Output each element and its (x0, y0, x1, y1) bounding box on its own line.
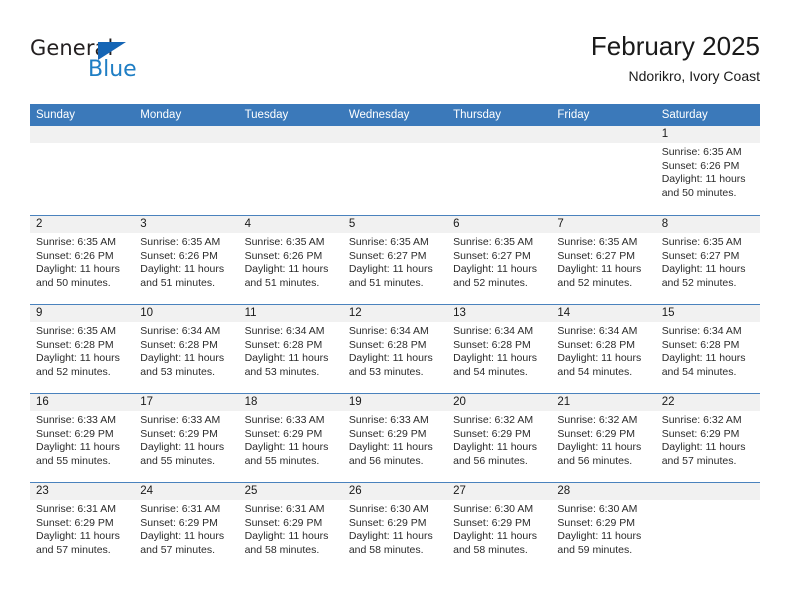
day-number: 15 (656, 305, 760, 322)
day-details: Sunrise: 6:31 AMSunset: 6:29 PMDaylight:… (134, 500, 238, 557)
sunrise-text: Sunrise: 6:32 AM (557, 414, 649, 428)
day-cell-1[interactable]: 1Sunrise: 6:35 AMSunset: 6:26 PMDaylight… (656, 126, 760, 215)
sunrise-text: Sunrise: 6:35 AM (662, 146, 754, 160)
day-number-band: 21 (551, 394, 655, 411)
daylight-text-line2: and 52 minutes. (36, 366, 128, 380)
day-number: 19 (343, 394, 447, 411)
weekday-header-sunday: Sunday (30, 104, 134, 126)
sunrise-text: Sunrise: 6:34 AM (245, 325, 337, 339)
day-details: Sunrise: 6:34 AMSunset: 6:28 PMDaylight:… (447, 322, 551, 379)
day-cell-2[interactable]: 2Sunrise: 6:35 AMSunset: 6:26 PMDaylight… (30, 216, 134, 304)
sunrise-text: Sunrise: 6:33 AM (140, 414, 232, 428)
sunset-text: Sunset: 6:29 PM (245, 428, 337, 442)
sunset-text: Sunset: 6:29 PM (245, 517, 337, 531)
day-details (343, 143, 447, 146)
sunset-text: Sunset: 6:28 PM (36, 339, 128, 353)
sunrise-text: Sunrise: 6:33 AM (349, 414, 441, 428)
day-details: Sunrise: 6:35 AMSunset: 6:26 PMDaylight:… (656, 143, 760, 200)
general-blue-logo[interactable]: General Blue (30, 36, 230, 88)
day-number-band: 27 (447, 483, 551, 500)
day-number-band: 18 (239, 394, 343, 411)
day-cell-19[interactable]: 19Sunrise: 6:33 AMSunset: 6:29 PMDayligh… (343, 394, 447, 482)
day-details: Sunrise: 6:32 AMSunset: 6:29 PMDaylight:… (551, 411, 655, 468)
daylight-text-line1: Daylight: 11 hours (453, 352, 545, 366)
day-details: Sunrise: 6:34 AMSunset: 6:28 PMDaylight:… (134, 322, 238, 379)
daylight-text-line2: and 54 minutes. (453, 366, 545, 380)
day-number: 12 (343, 305, 447, 322)
daylight-text-line1: Daylight: 11 hours (140, 263, 232, 277)
day-details: Sunrise: 6:35 AMSunset: 6:26 PMDaylight:… (239, 233, 343, 290)
day-details (447, 143, 551, 146)
sunset-text: Sunset: 6:27 PM (349, 250, 441, 264)
day-cell-11[interactable]: 11Sunrise: 6:34 AMSunset: 6:28 PMDayligh… (239, 305, 343, 393)
day-number-band (30, 126, 134, 143)
day-cell-14[interactable]: 14Sunrise: 6:34 AMSunset: 6:28 PMDayligh… (551, 305, 655, 393)
daylight-text-line2: and 56 minutes. (557, 455, 649, 469)
calendar-page: General Blue February 2025 Ndorikro, Ivo… (0, 0, 792, 612)
day-number-band (239, 126, 343, 143)
day-number: 24 (134, 483, 238, 500)
daylight-text-line2: and 56 minutes. (453, 455, 545, 469)
sunrise-text: Sunrise: 6:35 AM (349, 236, 441, 250)
sunrise-text: Sunrise: 6:35 AM (36, 236, 128, 250)
daylight-text-line2: and 52 minutes. (557, 277, 649, 291)
sunrise-text: Sunrise: 6:30 AM (557, 503, 649, 517)
sunset-text: Sunset: 6:26 PM (662, 160, 754, 174)
daylight-text-line1: Daylight: 11 hours (349, 530, 441, 544)
day-details (239, 143, 343, 146)
sunset-text: Sunset: 6:26 PM (245, 250, 337, 264)
day-number-band: 12 (343, 305, 447, 322)
daylight-text-line1: Daylight: 11 hours (453, 263, 545, 277)
day-number: 8 (656, 216, 760, 233)
weekday-header-saturday: Saturday (656, 104, 760, 126)
sunrise-text: Sunrise: 6:34 AM (349, 325, 441, 339)
day-cell-26[interactable]: 26Sunrise: 6:30 AMSunset: 6:29 PMDayligh… (343, 483, 447, 571)
day-cell-22[interactable]: 22Sunrise: 6:32 AMSunset: 6:29 PMDayligh… (656, 394, 760, 482)
sunset-text: Sunset: 6:26 PM (140, 250, 232, 264)
day-number: 26 (343, 483, 447, 500)
sunrise-text: Sunrise: 6:31 AM (140, 503, 232, 517)
sunrise-text: Sunrise: 6:33 AM (36, 414, 128, 428)
day-number: 14 (551, 305, 655, 322)
day-cell-10[interactable]: 10Sunrise: 6:34 AMSunset: 6:28 PMDayligh… (134, 305, 238, 393)
daylight-text-line2: and 55 minutes. (140, 455, 232, 469)
daylight-text-line2: and 52 minutes. (662, 277, 754, 291)
daylight-text-line1: Daylight: 11 hours (557, 352, 649, 366)
sunset-text: Sunset: 6:29 PM (557, 517, 649, 531)
daylight-text-line1: Daylight: 11 hours (36, 441, 128, 455)
sunrise-text: Sunrise: 6:30 AM (349, 503, 441, 517)
day-cell-3[interactable]: 3Sunrise: 6:35 AMSunset: 6:26 PMDaylight… (134, 216, 238, 304)
sunrise-text: Sunrise: 6:35 AM (557, 236, 649, 250)
day-details: Sunrise: 6:32 AMSunset: 6:29 PMDaylight:… (656, 411, 760, 468)
sunrise-text: Sunrise: 6:34 AM (557, 325, 649, 339)
sunrise-text: Sunrise: 6:34 AM (662, 325, 754, 339)
day-number-band: 5 (343, 216, 447, 233)
day-number-band: 22 (656, 394, 760, 411)
day-number-band: 15 (656, 305, 760, 322)
daylight-text-line2: and 54 minutes. (662, 366, 754, 380)
page-subtitle: Ndorikro, Ivory Coast (591, 66, 760, 86)
day-number: 17 (134, 394, 238, 411)
calendar-grid: SundayMondayTuesdayWednesdayThursdayFrid… (30, 104, 760, 571)
day-details: Sunrise: 6:33 AMSunset: 6:29 PMDaylight:… (134, 411, 238, 468)
day-cell-18[interactable]: 18Sunrise: 6:33 AMSunset: 6:29 PMDayligh… (239, 394, 343, 482)
sunrise-text: Sunrise: 6:33 AM (245, 414, 337, 428)
day-number-band: 13 (447, 305, 551, 322)
day-number: 11 (239, 305, 343, 322)
daylight-text-line2: and 57 minutes. (662, 455, 754, 469)
sunrise-text: Sunrise: 6:35 AM (36, 325, 128, 339)
day-number-band: 7 (551, 216, 655, 233)
calendar-week-row: 16Sunrise: 6:33 AMSunset: 6:29 PMDayligh… (30, 393, 760, 482)
daylight-text-line1: Daylight: 11 hours (140, 441, 232, 455)
day-cell-16[interactable]: 16Sunrise: 6:33 AMSunset: 6:29 PMDayligh… (30, 394, 134, 482)
sunset-text: Sunset: 6:27 PM (453, 250, 545, 264)
daylight-text-line1: Daylight: 11 hours (36, 263, 128, 277)
day-number-band: 26 (343, 483, 447, 500)
page-header: General Blue February 2025 Ndorikro, Ivo… (30, 30, 760, 92)
day-details: Sunrise: 6:33 AMSunset: 6:29 PMDaylight:… (343, 411, 447, 468)
day-cell-21[interactable]: 21Sunrise: 6:32 AMSunset: 6:29 PMDayligh… (551, 394, 655, 482)
day-number: 2 (30, 216, 134, 233)
daylight-text-line2: and 51 minutes. (349, 277, 441, 291)
calendar-week-row: 2Sunrise: 6:35 AMSunset: 6:26 PMDaylight… (30, 215, 760, 304)
day-cell-27[interactable]: 27Sunrise: 6:30 AMSunset: 6:29 PMDayligh… (447, 483, 551, 571)
sunset-text: Sunset: 6:28 PM (662, 339, 754, 353)
day-details: Sunrise: 6:31 AMSunset: 6:29 PMDaylight:… (30, 500, 134, 557)
day-number: 5 (343, 216, 447, 233)
day-details: Sunrise: 6:34 AMSunset: 6:28 PMDaylight:… (656, 322, 760, 379)
day-number-band: 2 (30, 216, 134, 233)
day-number-band: 24 (134, 483, 238, 500)
calendar-week-row: 1Sunrise: 6:35 AMSunset: 6:26 PMDaylight… (30, 126, 760, 215)
day-details: Sunrise: 6:30 AMSunset: 6:29 PMDaylight:… (551, 500, 655, 557)
day-number-band: 17 (134, 394, 238, 411)
daylight-text-line2: and 50 minutes. (36, 277, 128, 291)
sunset-text: Sunset: 6:28 PM (557, 339, 649, 353)
sunset-text: Sunset: 6:29 PM (349, 428, 441, 442)
sunrise-text: Sunrise: 6:32 AM (662, 414, 754, 428)
day-number-band: 3 (134, 216, 238, 233)
day-number-band: 23 (30, 483, 134, 500)
sunset-text: Sunset: 6:27 PM (557, 250, 649, 264)
day-number-band: 11 (239, 305, 343, 322)
day-cell-empty (447, 126, 551, 215)
day-details: Sunrise: 6:33 AMSunset: 6:29 PMDaylight:… (239, 411, 343, 468)
logo-text-blue: Blue (88, 57, 137, 82)
sunrise-text: Sunrise: 6:35 AM (245, 236, 337, 250)
day-number-band: 9 (30, 305, 134, 322)
daylight-text-line1: Daylight: 11 hours (349, 352, 441, 366)
day-number: 6 (447, 216, 551, 233)
daylight-text-line2: and 58 minutes. (453, 544, 545, 558)
calendar-weeks: 1Sunrise: 6:35 AMSunset: 6:26 PMDaylight… (30, 126, 760, 571)
day-cell-empty (239, 126, 343, 215)
day-cell-25[interactable]: 25Sunrise: 6:31 AMSunset: 6:29 PMDayligh… (239, 483, 343, 571)
day-cell-empty (134, 126, 238, 215)
day-cell-20[interactable]: 20Sunrise: 6:32 AMSunset: 6:29 PMDayligh… (447, 394, 551, 482)
daylight-text-line1: Daylight: 11 hours (245, 352, 337, 366)
day-number: 20 (447, 394, 551, 411)
day-number-band: 16 (30, 394, 134, 411)
sunset-text: Sunset: 6:29 PM (36, 517, 128, 531)
day-cell-empty (343, 126, 447, 215)
day-details: Sunrise: 6:34 AMSunset: 6:28 PMDaylight:… (239, 322, 343, 379)
daylight-text-line2: and 53 minutes. (349, 366, 441, 380)
day-cell-4[interactable]: 4Sunrise: 6:35 AMSunset: 6:26 PMDaylight… (239, 216, 343, 304)
day-cell-empty (30, 126, 134, 215)
day-details: Sunrise: 6:35 AMSunset: 6:27 PMDaylight:… (551, 233, 655, 290)
day-number: 28 (551, 483, 655, 500)
day-number-band: 25 (239, 483, 343, 500)
sunrise-text: Sunrise: 6:35 AM (453, 236, 545, 250)
day-number-band: 8 (656, 216, 760, 233)
sunset-text: Sunset: 6:28 PM (453, 339, 545, 353)
daylight-text-line1: Daylight: 11 hours (662, 173, 754, 187)
daylight-text-line1: Daylight: 11 hours (36, 352, 128, 366)
day-details: Sunrise: 6:35 AMSunset: 6:27 PMDaylight:… (343, 233, 447, 290)
day-number: 3 (134, 216, 238, 233)
daylight-text-line2: and 51 minutes. (140, 277, 232, 291)
sunrise-text: Sunrise: 6:30 AM (453, 503, 545, 517)
sunset-text: Sunset: 6:28 PM (140, 339, 232, 353)
day-number-band: 20 (447, 394, 551, 411)
day-cell-17[interactable]: 17Sunrise: 6:33 AMSunset: 6:29 PMDayligh… (134, 394, 238, 482)
daylight-text-line1: Daylight: 11 hours (557, 263, 649, 277)
daylight-text-line1: Daylight: 11 hours (662, 352, 754, 366)
daylight-text-line2: and 57 minutes. (36, 544, 128, 558)
day-cell-9[interactable]: 9Sunrise: 6:35 AMSunset: 6:28 PMDaylight… (30, 305, 134, 393)
day-number-band (343, 126, 447, 143)
day-number: 27 (447, 483, 551, 500)
day-details (134, 143, 238, 146)
daylight-text-line2: and 54 minutes. (557, 366, 649, 380)
daylight-text-line2: and 51 minutes. (245, 277, 337, 291)
day-cell-12[interactable]: 12Sunrise: 6:34 AMSunset: 6:28 PMDayligh… (343, 305, 447, 393)
day-number: 13 (447, 305, 551, 322)
day-details: Sunrise: 6:34 AMSunset: 6:28 PMDaylight:… (343, 322, 447, 379)
daylight-text-line1: Daylight: 11 hours (140, 530, 232, 544)
weekday-header-monday: Monday (134, 104, 238, 126)
day-details: Sunrise: 6:31 AMSunset: 6:29 PMDaylight:… (239, 500, 343, 557)
daylight-text-line2: and 58 minutes. (349, 544, 441, 558)
daylight-text-line2: and 53 minutes. (140, 366, 232, 380)
day-details: Sunrise: 6:32 AMSunset: 6:29 PMDaylight:… (447, 411, 551, 468)
weekday-header-row: SundayMondayTuesdayWednesdayThursdayFrid… (30, 104, 760, 126)
day-cell-5[interactable]: 5Sunrise: 6:35 AMSunset: 6:27 PMDaylight… (343, 216, 447, 304)
daylight-text-line1: Daylight: 11 hours (349, 441, 441, 455)
sunset-text: Sunset: 6:28 PM (349, 339, 441, 353)
weekday-header-friday: Friday (551, 104, 655, 126)
daylight-text-line2: and 53 minutes. (245, 366, 337, 380)
sunset-text: Sunset: 6:27 PM (662, 250, 754, 264)
daylight-text-line2: and 55 minutes. (245, 455, 337, 469)
day-number-band (551, 126, 655, 143)
day-details: Sunrise: 6:34 AMSunset: 6:28 PMDaylight:… (551, 322, 655, 379)
daylight-text-line2: and 58 minutes. (245, 544, 337, 558)
sunrise-text: Sunrise: 6:34 AM (453, 325, 545, 339)
daylight-text-line2: and 50 minutes. (662, 187, 754, 201)
daylight-text-line1: Daylight: 11 hours (36, 530, 128, 544)
sunset-text: Sunset: 6:29 PM (140, 517, 232, 531)
sunset-text: Sunset: 6:29 PM (557, 428, 649, 442)
title-block: February 2025 Ndorikro, Ivory Coast (591, 30, 760, 86)
day-number-band: 1 (656, 126, 760, 143)
day-details: Sunrise: 6:30 AMSunset: 6:29 PMDaylight:… (343, 500, 447, 557)
daylight-text-line1: Daylight: 11 hours (245, 263, 337, 277)
weekday-header-wednesday: Wednesday (343, 104, 447, 126)
daylight-text-line1: Daylight: 11 hours (662, 441, 754, 455)
sunset-text: Sunset: 6:29 PM (36, 428, 128, 442)
day-number: 21 (551, 394, 655, 411)
day-cell-7[interactable]: 7Sunrise: 6:35 AMSunset: 6:27 PMDaylight… (551, 216, 655, 304)
day-number: 10 (134, 305, 238, 322)
day-number-band (134, 126, 238, 143)
sunrise-text: Sunrise: 6:31 AM (36, 503, 128, 517)
sunrise-text: Sunrise: 6:32 AM (453, 414, 545, 428)
day-cell-6[interactable]: 6Sunrise: 6:35 AMSunset: 6:27 PMDaylight… (447, 216, 551, 304)
daylight-text-line1: Daylight: 11 hours (245, 530, 337, 544)
sunrise-text: Sunrise: 6:35 AM (140, 236, 232, 250)
day-cell-8[interactable]: 8Sunrise: 6:35 AMSunset: 6:27 PMDaylight… (656, 216, 760, 304)
sunrise-text: Sunrise: 6:31 AM (245, 503, 337, 517)
daylight-text-line1: Daylight: 11 hours (453, 441, 545, 455)
sunset-text: Sunset: 6:29 PM (349, 517, 441, 531)
day-cell-empty (551, 126, 655, 215)
daylight-text-line1: Daylight: 11 hours (453, 530, 545, 544)
day-number: 23 (30, 483, 134, 500)
daylight-text-line1: Daylight: 11 hours (557, 530, 649, 544)
daylight-text-line2: and 52 minutes. (453, 277, 545, 291)
day-cell-24[interactable]: 24Sunrise: 6:31 AMSunset: 6:29 PMDayligh… (134, 483, 238, 571)
sunrise-text: Sunrise: 6:34 AM (140, 325, 232, 339)
daylight-text-line1: Daylight: 11 hours (557, 441, 649, 455)
day-details (656, 500, 760, 503)
day-number-band: 10 (134, 305, 238, 322)
day-details: Sunrise: 6:35 AMSunset: 6:28 PMDaylight:… (30, 322, 134, 379)
daylight-text-line1: Daylight: 11 hours (140, 352, 232, 366)
day-details: Sunrise: 6:35 AMSunset: 6:26 PMDaylight:… (30, 233, 134, 290)
daylight-text-line1: Daylight: 11 hours (245, 441, 337, 455)
day-number: 1 (656, 126, 760, 143)
day-details (30, 143, 134, 146)
day-number-band: 14 (551, 305, 655, 322)
day-number-band: 19 (343, 394, 447, 411)
daylight-text-line2: and 56 minutes. (349, 455, 441, 469)
day-number-band: 28 (551, 483, 655, 500)
daylight-text-line2: and 55 minutes. (36, 455, 128, 469)
day-number-band: 4 (239, 216, 343, 233)
day-details: Sunrise: 6:35 AMSunset: 6:27 PMDaylight:… (447, 233, 551, 290)
sunrise-text: Sunrise: 6:35 AM (662, 236, 754, 250)
daylight-text-line2: and 59 minutes. (557, 544, 649, 558)
day-number: 7 (551, 216, 655, 233)
day-cell-28[interactable]: 28Sunrise: 6:30 AMSunset: 6:29 PMDayligh… (551, 483, 655, 571)
calendar-week-row: 23Sunrise: 6:31 AMSunset: 6:29 PMDayligh… (30, 482, 760, 571)
calendar-week-row: 9Sunrise: 6:35 AMSunset: 6:28 PMDaylight… (30, 304, 760, 393)
sunset-text: Sunset: 6:29 PM (453, 428, 545, 442)
day-details: Sunrise: 6:30 AMSunset: 6:29 PMDaylight:… (447, 500, 551, 557)
weekday-header-thursday: Thursday (447, 104, 551, 126)
day-details (551, 143, 655, 146)
day-number: 18 (239, 394, 343, 411)
sunset-text: Sunset: 6:26 PM (36, 250, 128, 264)
day-number: 16 (30, 394, 134, 411)
day-details: Sunrise: 6:35 AMSunset: 6:27 PMDaylight:… (656, 233, 760, 290)
day-number-band: 6 (447, 216, 551, 233)
day-number: 22 (656, 394, 760, 411)
day-number: 25 (239, 483, 343, 500)
sunset-text: Sunset: 6:29 PM (140, 428, 232, 442)
day-number-band (447, 126, 551, 143)
day-number: 9 (30, 305, 134, 322)
day-cell-23[interactable]: 23Sunrise: 6:31 AMSunset: 6:29 PMDayligh… (30, 483, 134, 571)
sunset-text: Sunset: 6:28 PM (245, 339, 337, 353)
weekday-header-tuesday: Tuesday (239, 104, 343, 126)
daylight-text-line1: Daylight: 11 hours (349, 263, 441, 277)
day-number: 4 (239, 216, 343, 233)
page-title: February 2025 (591, 30, 760, 62)
day-cell-15[interactable]: 15Sunrise: 6:34 AMSunset: 6:28 PMDayligh… (656, 305, 760, 393)
sunset-text: Sunset: 6:29 PM (453, 517, 545, 531)
daylight-text-line2: and 57 minutes. (140, 544, 232, 558)
day-details: Sunrise: 6:35 AMSunset: 6:26 PMDaylight:… (134, 233, 238, 290)
daylight-text-line1: Daylight: 11 hours (662, 263, 754, 277)
day-number-band (656, 483, 760, 500)
day-cell-13[interactable]: 13Sunrise: 6:34 AMSunset: 6:28 PMDayligh… (447, 305, 551, 393)
day-cell-empty (656, 483, 760, 571)
sunset-text: Sunset: 6:29 PM (662, 428, 754, 442)
day-details: Sunrise: 6:33 AMSunset: 6:29 PMDaylight:… (30, 411, 134, 468)
